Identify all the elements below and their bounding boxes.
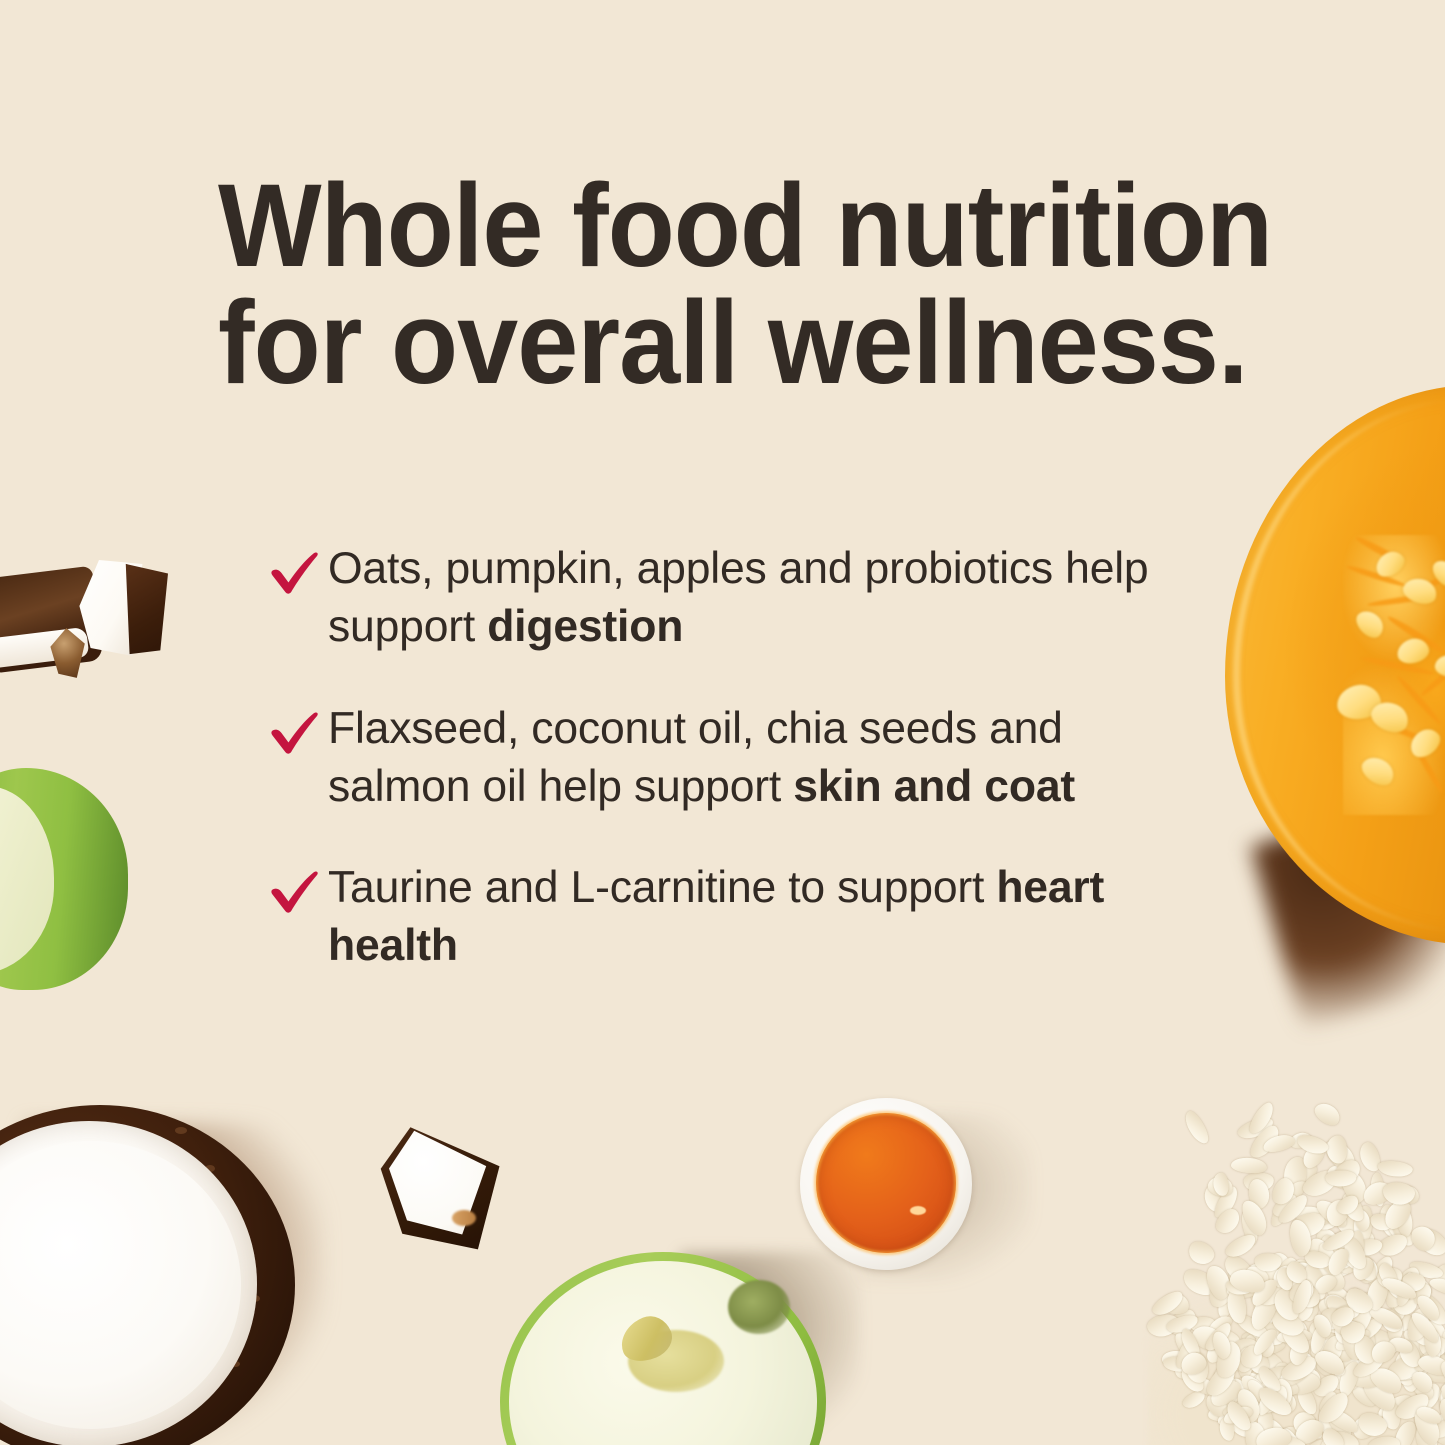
list-item-text-emphasis: digestion bbox=[487, 602, 683, 651]
check-icon bbox=[268, 867, 320, 915]
list-item: Flaxseed, coconut oil, chia seeds and sa… bbox=[268, 700, 1198, 816]
list-item-text-emphasis: skin and coat bbox=[793, 762, 1075, 811]
list-item-label: Taurine and L-carnitine to support heart… bbox=[328, 859, 1198, 975]
check-icon bbox=[268, 708, 320, 756]
list-item-label: Flaxseed, coconut oil, chia seeds and sa… bbox=[328, 700, 1198, 816]
benefits-list: Oats, pumpkin, apples and probiotics hel… bbox=[268, 540, 1198, 975]
list-item: Oats, pumpkin, apples and probiotics hel… bbox=[268, 540, 1198, 656]
list-item-text-normal: Taurine and L-carnitine to support bbox=[328, 863, 996, 912]
list-item-text-normal: Oats, pumpkin, apples and probiotics hel… bbox=[328, 544, 1148, 651]
page-title: Whole food nutrition for overall wellnes… bbox=[218, 168, 1204, 402]
headline-line-1: Whole food nutrition bbox=[218, 168, 1204, 285]
promo-graphic: Whole food nutrition for overall wellnes… bbox=[0, 0, 1445, 1445]
headline-line-2: for overall wellness. bbox=[218, 285, 1204, 402]
check-icon bbox=[268, 548, 320, 596]
list-item-label: Oats, pumpkin, apples and probiotics hel… bbox=[328, 540, 1198, 656]
list-item: Taurine and L-carnitine to support heart… bbox=[268, 859, 1198, 975]
